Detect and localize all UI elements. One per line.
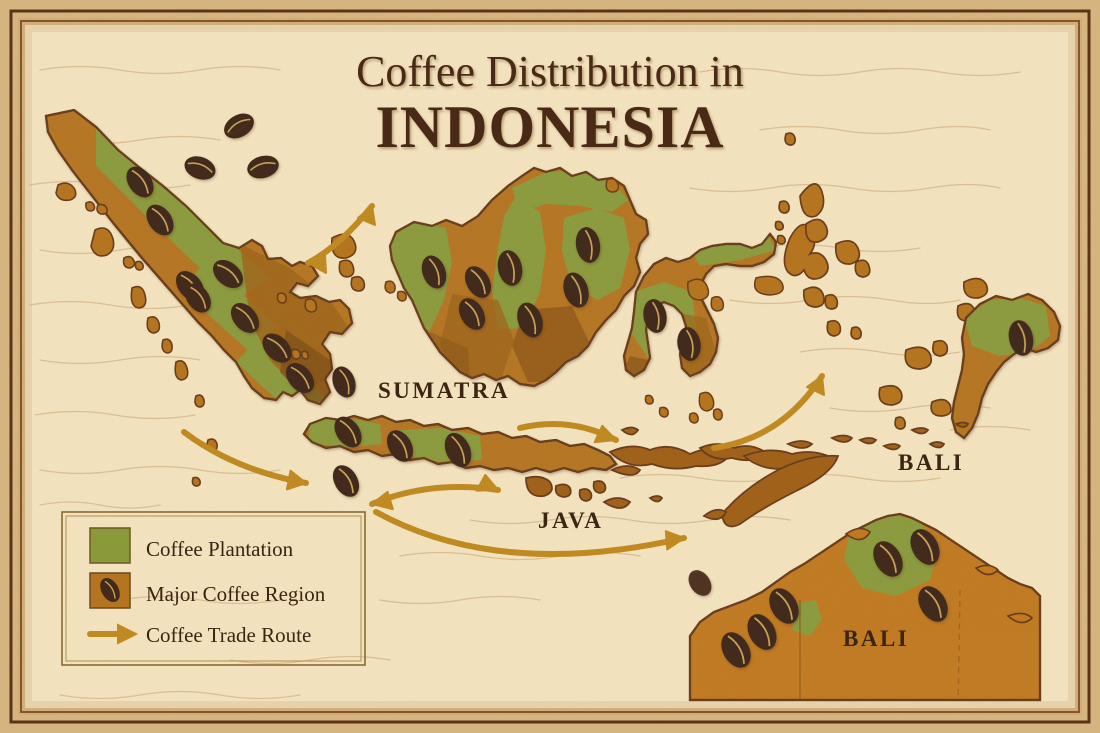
map-canvas: SUMATRA JAVA BALI BALI Coffee Distributi… <box>0 0 1100 733</box>
legend-label-major-region: Major Coffee Region <box>146 582 326 606</box>
title-line-2: INDONESIA <box>375 94 724 160</box>
legend-label-plantation: Coffee Plantation <box>146 537 294 561</box>
legend-label-trade-route: Coffee Trade Route <box>146 623 311 647</box>
region-label-sumatra: SUMATRA <box>378 378 510 403</box>
region-label-java: JAVA <box>538 508 603 533</box>
region-label-bali-sea: BALI <box>898 450 964 475</box>
poster-title: Coffee Distribution in INDONESIA <box>356 47 744 160</box>
region-label-bali-land: BALI <box>843 626 909 651</box>
title-line-1: Coffee Distribution in <box>356 47 744 96</box>
legend-swatch-plantation <box>90 528 130 563</box>
coffee-distribution-map: SUMATRA JAVA BALI BALI Coffee Distributi… <box>0 0 1100 733</box>
